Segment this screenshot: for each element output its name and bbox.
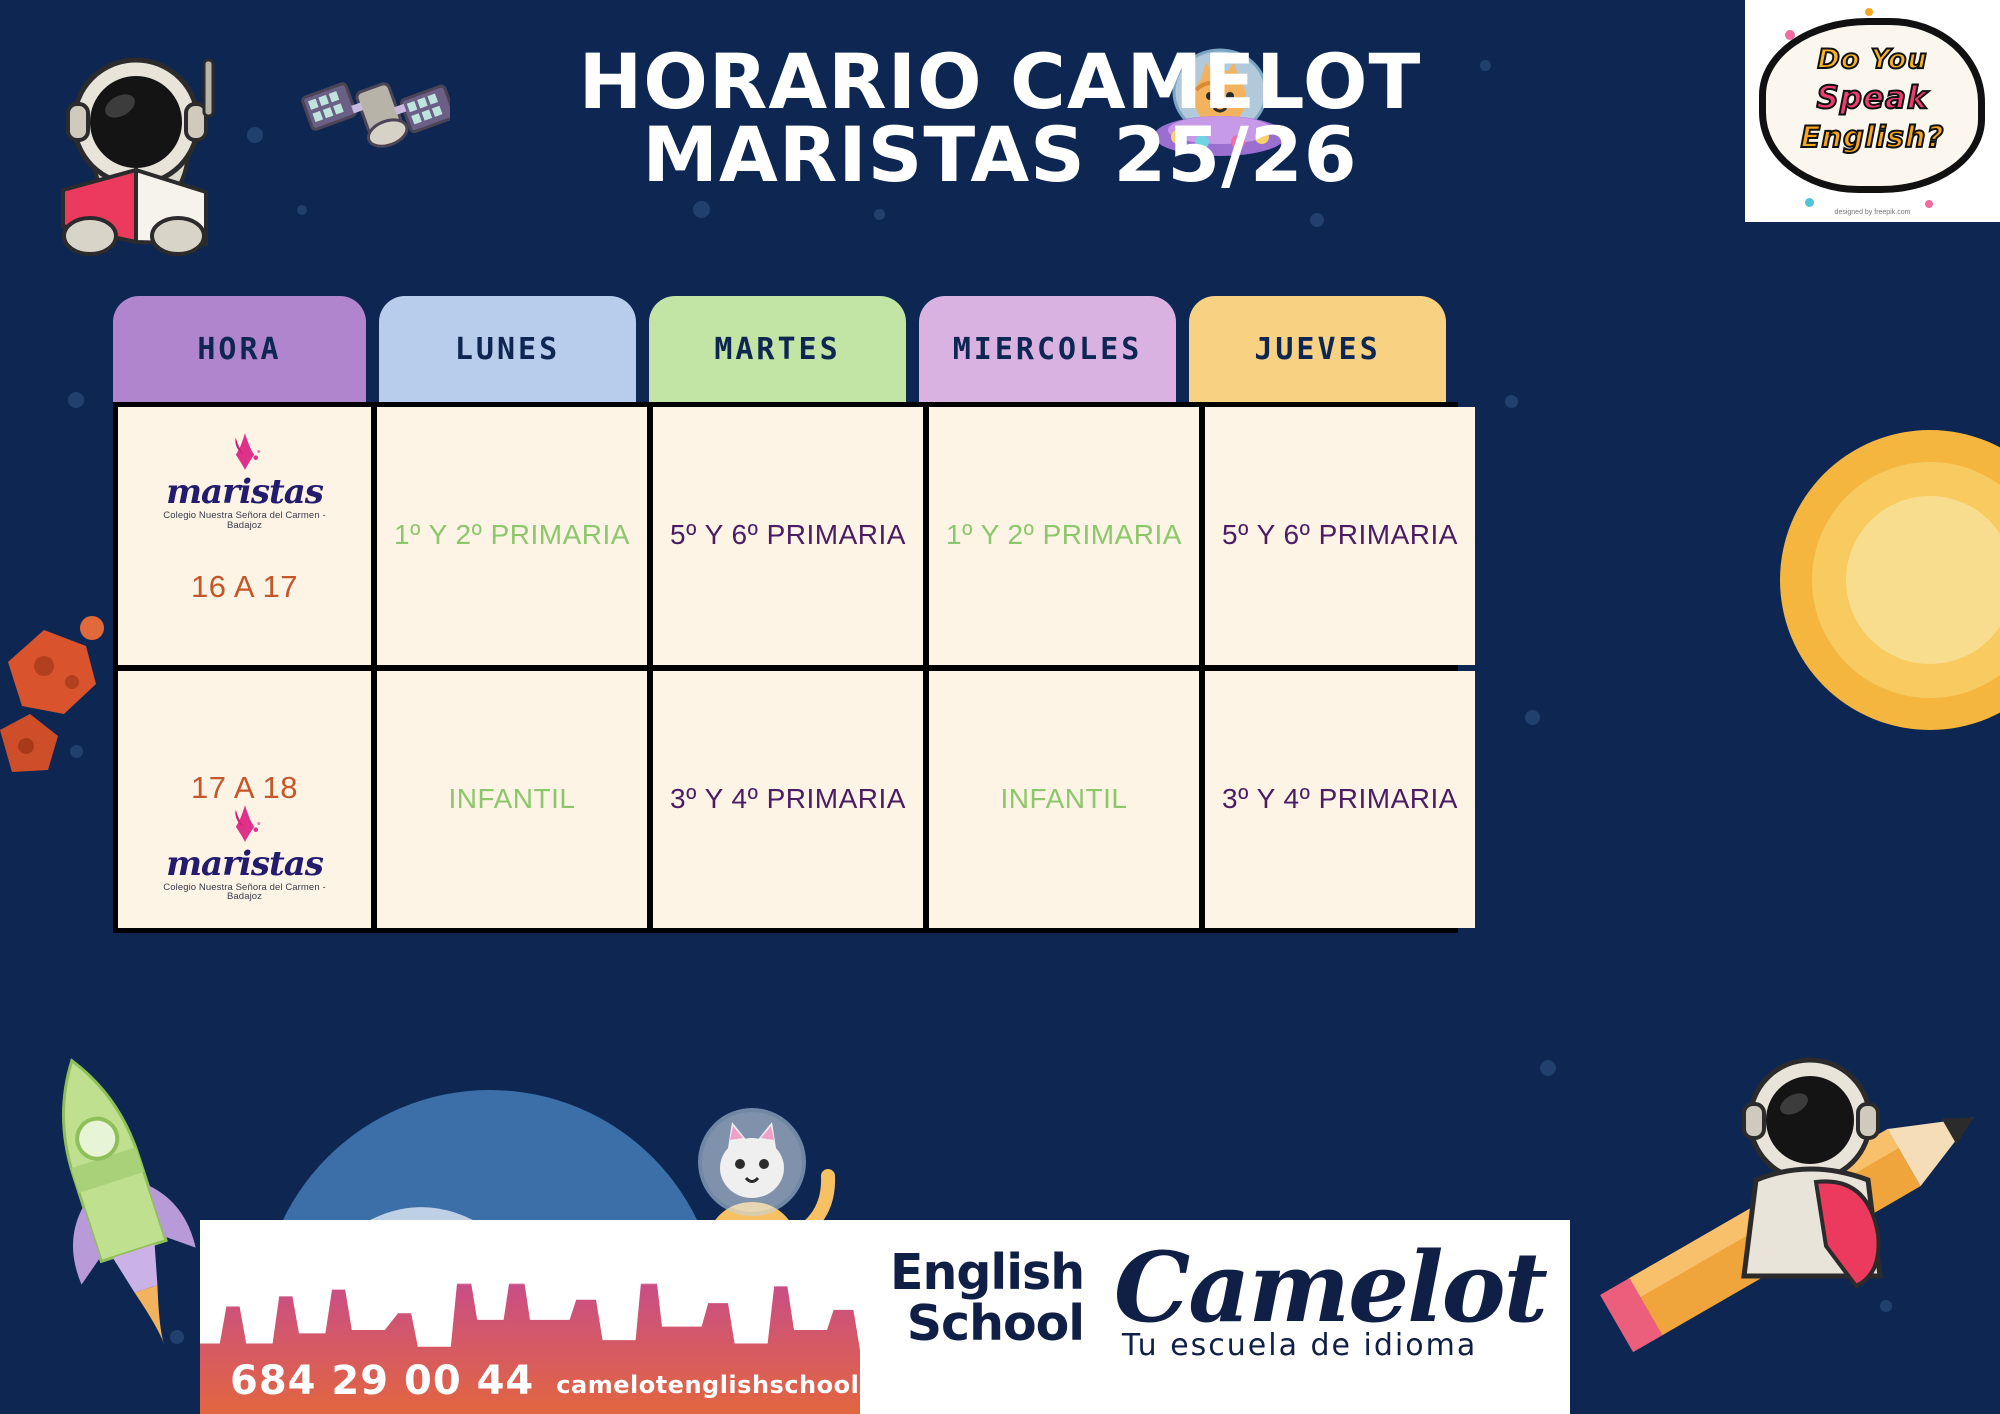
confetti-dot xyxy=(1805,198,1814,207)
background-dot xyxy=(170,1330,184,1344)
english-word: English xyxy=(890,1248,1084,1299)
class-cell-miercoles-1700: INFANTIL xyxy=(929,671,1199,929)
background-dot xyxy=(70,745,83,758)
column-header-hora: HORA xyxy=(113,296,366,402)
column-header-miercoles: MIERCOLES xyxy=(919,296,1176,402)
class-cell-lunes-1700: INFANTIL xyxy=(377,671,647,929)
astronaut-reading-icon xyxy=(28,30,238,260)
asteroid-icon xyxy=(0,610,120,790)
class-label: INFANTIL xyxy=(449,784,576,815)
camelot-wordmark: Camelot xyxy=(1114,1244,1546,1332)
confetti-dot xyxy=(1925,200,1933,208)
class-label: 5º Y 6º PRIMARIA xyxy=(670,520,906,551)
badge-credit: designed by freepik.com xyxy=(1745,209,2000,216)
background-dot xyxy=(68,392,84,408)
maristas-logo: maristas Colegio Nuestra Señora del Carm… xyxy=(156,799,334,902)
class-cell-jueves-1600: 5º Y 6º PRIMARIA xyxy=(1205,407,1475,665)
background-dot xyxy=(1525,710,1540,725)
maristas-wordmark: maristas xyxy=(156,475,334,509)
maristas-mark-icon xyxy=(222,427,268,473)
maristas-logo: maristas Colegio Nuestra Señora del Carm… xyxy=(156,427,334,530)
background-dot xyxy=(297,205,307,215)
contact-banner: 684 29 00 44 camelotenglishschool@gmail.… xyxy=(200,1220,1570,1414)
background-dot xyxy=(1310,213,1324,227)
class-cell-martes-1600: 5º Y 6º PRIMARIA xyxy=(653,407,923,665)
schedule-poster: HORARIO CAMELOT MARISTAS 25/26 Do You Sp… xyxy=(0,0,2000,1414)
title-line-1: HORARIO CAMELOT xyxy=(0,46,2000,119)
class-label: 1º Y 2º PRIMARIA xyxy=(394,520,630,551)
school-word: School xyxy=(890,1299,1084,1350)
hora-cell-row-1: maristas Colegio Nuestra Señora del Carm… xyxy=(118,407,371,665)
poster-title: HORARIO CAMELOT MARISTAS 25/26 xyxy=(0,46,2000,192)
column-header-martes: MARTES xyxy=(649,296,906,402)
maristas-wordmark: maristas xyxy=(156,847,334,881)
satellite-icon xyxy=(300,40,450,180)
schedule-table: HORA LUNES MARTES MIERCOLES JUEVES maris… xyxy=(113,296,1458,933)
class-cell-miercoles-1600: 1º Y 2º PRIMARIA xyxy=(929,407,1199,665)
class-cell-lunes-1600: 1º Y 2º PRIMARIA xyxy=(377,407,647,665)
maristas-subtitle: Colegio Nuestra Señora del Carmen - Bada… xyxy=(156,883,334,902)
class-label: 3º Y 4º PRIMARIA xyxy=(1222,784,1458,815)
background-dot xyxy=(1880,1300,1892,1312)
badge-line-1: Do You xyxy=(1745,44,2000,75)
phone-number: 684 29 00 44 xyxy=(230,1358,534,1404)
column-header-lunes: LUNES xyxy=(379,296,636,402)
background-dot xyxy=(247,127,263,143)
table-body-grid: maristas Colegio Nuestra Señora del Carm… xyxy=(113,402,1458,933)
background-dot xyxy=(1505,395,1518,408)
sun-icon xyxy=(1680,420,2000,740)
hora-cell-row-2: 17 A 18 maristas Colegio Nuestra Señora … xyxy=(118,671,371,929)
email-address: camelotenglishschool@gmail.com xyxy=(556,1371,1028,1399)
cat-ufo-icon xyxy=(1140,40,1300,170)
class-label: 3º Y 4º PRIMARIA xyxy=(670,784,906,815)
class-label: 1º Y 2º PRIMARIA xyxy=(946,520,1182,551)
table-header-row: HORA LUNES MARTES MIERCOLES JUEVES xyxy=(113,296,1458,402)
class-cell-martes-1700: 3º Y 4º PRIMARIA xyxy=(653,671,923,929)
do-you-speak-english-badge: Do You Speak English? designed by freepi… xyxy=(1745,0,2000,222)
maristas-subtitle: Colegio Nuestra Señora del Carmen - Bada… xyxy=(156,511,334,530)
background-dot xyxy=(874,209,885,220)
class-cell-jueves-1700: 3º Y 4º PRIMARIA xyxy=(1205,671,1475,929)
english-school-label: English School xyxy=(890,1248,1084,1350)
title-line-2: MARISTAS 25/26 xyxy=(0,119,2000,192)
class-label: 5º Y 6º PRIMARIA xyxy=(1222,520,1458,551)
astronaut-pencil-icon xyxy=(1580,1030,2000,1410)
time-slot-label: 16 A 17 xyxy=(118,570,371,604)
background-dot xyxy=(1540,1060,1556,1076)
maristas-mark-icon xyxy=(222,799,268,845)
camelot-logo: Camelot Tu escuela de idioma xyxy=(1114,1244,1546,1363)
column-header-jueves: JUEVES xyxy=(1189,296,1446,402)
contact-info: 684 29 00 44 camelotenglishschool@gmail.… xyxy=(230,1358,1028,1404)
background-dot xyxy=(693,201,710,218)
background-dot xyxy=(1480,60,1491,71)
class-label: INFANTIL xyxy=(1001,784,1128,815)
badge-line-3: English? xyxy=(1745,120,2000,154)
confetti-dot xyxy=(1865,8,1873,16)
badge-line-2: Speak xyxy=(1745,80,2000,116)
